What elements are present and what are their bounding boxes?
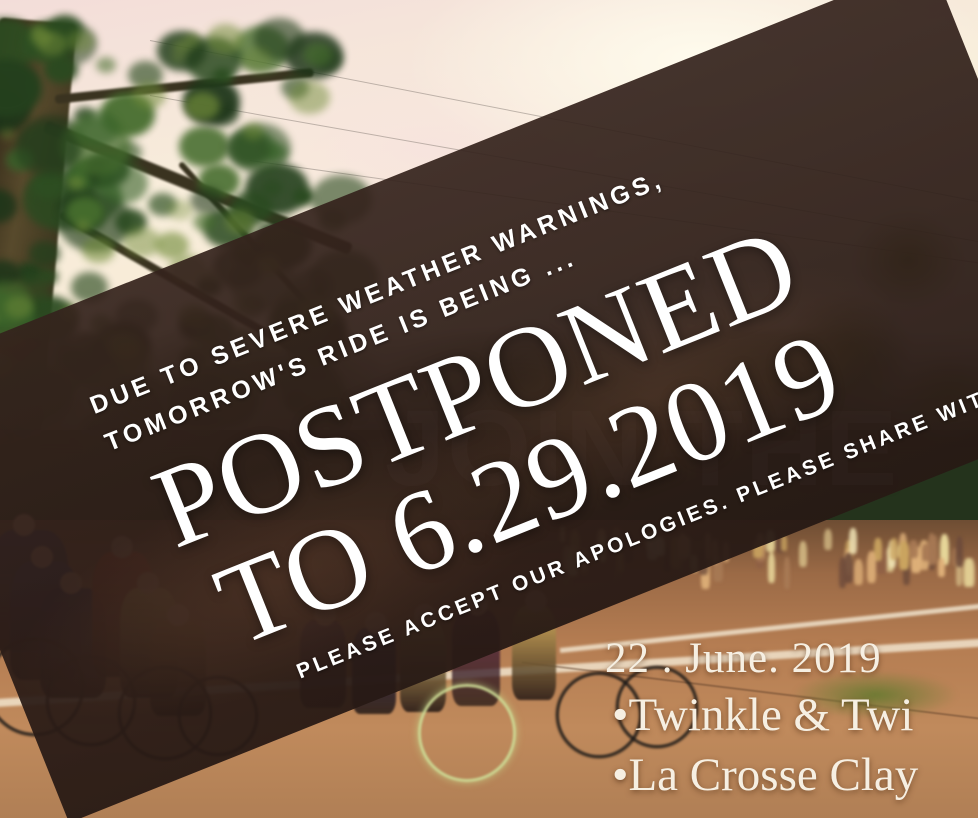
crowd-figure: [768, 552, 776, 583]
crowd-figure: [956, 536, 963, 567]
crowd-figure: [932, 535, 938, 563]
leaf-cluster: [289, 81, 330, 114]
leaf-cluster: [185, 92, 220, 120]
leaf-cluster: [193, 213, 215, 231]
crowd-figure: [938, 558, 944, 577]
leaf-cluster: [123, 227, 160, 257]
leaf-cluster: [74, 110, 119, 147]
crowd-figure: [963, 558, 973, 587]
leaf-cluster: [76, 220, 90, 231]
leaf-cluster: [38, 32, 67, 55]
crowd-figure: [799, 541, 807, 567]
leaf-cluster: [32, 173, 64, 199]
leaf-cluster: [44, 56, 78, 84]
crowd-figure: [909, 540, 918, 558]
crowd-figure: [854, 559, 864, 585]
illuminated-bike-wheel: [418, 684, 516, 782]
poster-image: JOIN THE 22 . June. 2019 •Twinkle & Twi …: [0, 0, 978, 818]
leaf-cluster: [5, 296, 33, 318]
flyer-event-line-2: •La Crosse Clay: [612, 748, 918, 802]
leaf-cluster: [68, 176, 85, 189]
leaf-cluster: [179, 126, 229, 167]
crowd-figure: [824, 529, 832, 551]
crowd-figure: [899, 541, 909, 569]
flyer-event-date: 22 . June. 2019: [605, 634, 882, 683]
leaf-cluster: [225, 210, 254, 233]
leaf-cluster: [207, 24, 244, 54]
leaf-cluster: [293, 188, 314, 205]
crowd-figure: [784, 557, 789, 589]
flyer-event-line-1: •Twinkle & Twi: [612, 688, 913, 742]
leaf-cluster: [190, 187, 224, 215]
leaf-cluster: [67, 30, 94, 52]
crowd-figure: [844, 553, 852, 583]
crowd-figure: [867, 551, 876, 583]
crowd-figure: [849, 528, 857, 553]
leaf-cluster: [303, 43, 331, 66]
